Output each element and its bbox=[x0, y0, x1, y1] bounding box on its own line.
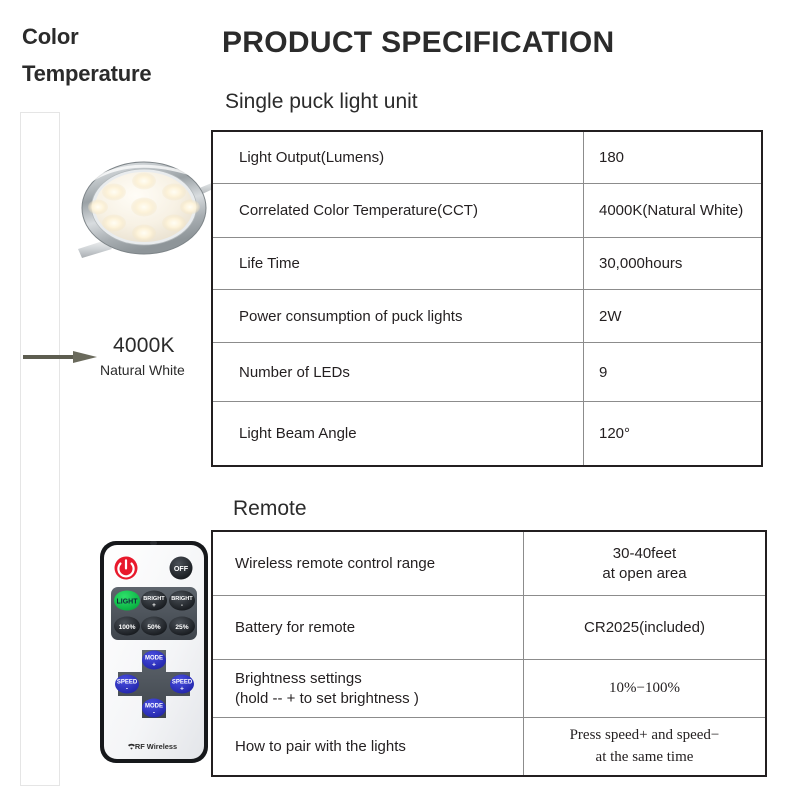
spec-value: 180 bbox=[584, 132, 762, 184]
spec-key: Number of LEDs bbox=[213, 343, 584, 402]
marker-value-label: 4000K bbox=[113, 334, 175, 358]
bright-down-label: BRIGHT bbox=[171, 596, 193, 602]
color-temperature-heading: Color Temperature bbox=[22, 18, 212, 92]
section-title-remote: Remote bbox=[233, 497, 307, 521]
rf-wireless-label: RF Wireless bbox=[135, 742, 177, 751]
spec-value: 2W bbox=[584, 290, 762, 343]
puck-light-image bbox=[72, 150, 227, 270]
spec-key: Correlated Color Temperature(CCT) bbox=[213, 184, 584, 238]
puck-light-spec-table: Light Output(Lumens) 180 Correlated Colo… bbox=[212, 131, 762, 466]
table-row: Number of LEDs 9 bbox=[213, 343, 762, 402]
table-row: Light Output(Lumens) 180 bbox=[213, 132, 762, 184]
spec-value: 9 bbox=[584, 343, 762, 402]
page-title: PRODUCT SPECIFICATION bbox=[222, 26, 614, 60]
remote-control-image: OFF LIGHT BRIGHT + BRIGHT - 100% 50% 25%… bbox=[98, 538, 210, 766]
remote-value-line-2: at open area bbox=[534, 564, 755, 584]
remote-key: How to pair with the lights bbox=[213, 718, 524, 776]
color-temperature-marker-arrow-icon bbox=[23, 351, 98, 363]
speed-up-sign: + bbox=[180, 685, 184, 692]
spec-key: Life Time bbox=[213, 238, 584, 290]
spec-value: 30,000hours bbox=[584, 238, 762, 290]
preset-100-label: 100% bbox=[119, 624, 136, 631]
remote-key: Battery for remote bbox=[213, 596, 524, 660]
heading-line-2: Temperature bbox=[22, 55, 212, 92]
mode-down-sign: - bbox=[153, 709, 155, 716]
off-button-label: OFF bbox=[174, 564, 189, 573]
remote-spec-table: Wireless remote control range 30-40feet … bbox=[212, 531, 766, 776]
bright-up-sign: + bbox=[152, 602, 156, 609]
arrow-head bbox=[73, 351, 97, 363]
bright-up-label: BRIGHT bbox=[143, 596, 165, 602]
remote-value: Press speed+ and speed− at the same time bbox=[524, 718, 766, 776]
spec-key: Power consumption of puck lights bbox=[213, 290, 584, 343]
mode-up-sign: + bbox=[152, 661, 156, 668]
table-row: Battery for remote CR2025(included) bbox=[213, 596, 766, 660]
spec-value: 120° bbox=[584, 402, 762, 466]
light-button-label: LIGHT bbox=[117, 599, 139, 606]
spec-key: Light Beam Angle bbox=[213, 402, 584, 466]
spec-value: 4000K(Natural White) bbox=[584, 184, 762, 238]
table-row: Life Time 30,000hours bbox=[213, 238, 762, 290]
table-row: Wireless remote control range 30-40feet … bbox=[213, 532, 766, 596]
spec-key: Light Output(Lumens) bbox=[213, 132, 584, 184]
arrow-shaft bbox=[23, 355, 78, 359]
section-title-puck-light: Single puck light unit bbox=[225, 90, 418, 114]
remote-key: Wireless remote control range bbox=[213, 532, 524, 596]
remote-value-line-1: 30-40feet bbox=[534, 544, 755, 564]
heading-line-1: Color bbox=[22, 24, 78, 49]
preset-50-label: 50% bbox=[147, 624, 160, 631]
table-row: Correlated Color Temperature(CCT) 4000K(… bbox=[213, 184, 762, 238]
remote-value-line-1: Press speed+ and speed− bbox=[534, 725, 755, 746]
preset-25-label: 25% bbox=[175, 624, 188, 631]
remote-value: 10%−100% bbox=[524, 660, 766, 718]
remote-value-line-2: at the same time bbox=[534, 747, 755, 768]
remote-ir-notch bbox=[150, 541, 157, 545]
remote-key: Brightness settings (hold -- + to set br… bbox=[213, 660, 524, 718]
table-row: Power consumption of puck lights 2W bbox=[213, 290, 762, 343]
speed-down-sign: - bbox=[126, 685, 128, 692]
table-row: Brightness settings (hold -- + to set br… bbox=[213, 660, 766, 718]
remote-value: CR2025(included) bbox=[524, 596, 766, 660]
table-row: Light Beam Angle 120° bbox=[213, 402, 762, 466]
remote-key-line-1: Brightness settings bbox=[235, 669, 513, 689]
remote-value: 30-40feet at open area bbox=[524, 532, 766, 596]
remote-key-line-2: (hold -- + to set brightness ) bbox=[235, 689, 513, 709]
marker-sublabel: Natural White bbox=[100, 362, 185, 378]
table-row: How to pair with the lights Press speed+… bbox=[213, 718, 766, 776]
color-temperature-gradient-bar bbox=[21, 113, 59, 785]
bright-down-sign: - bbox=[181, 602, 183, 609]
